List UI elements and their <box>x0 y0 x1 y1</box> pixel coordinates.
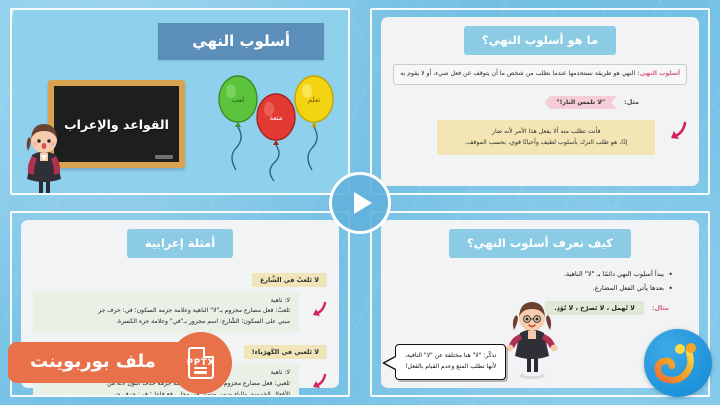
note-line-2: إذًا، هو طلب الترك بأسلوب لطيف وأحيانًا … <box>447 137 645 148</box>
balloon-yellow: تعلم <box>295 76 333 170</box>
note-box: فأنت تطلب منه ألا يفعل هذا الأمر لأنه ضا… <box>437 120 655 155</box>
example-item: لا تَلعبْ في الشَّارع لا: ناهية تَلعبْ: … <box>33 267 327 334</box>
definition-text: النهي هو طريقة نستخدمها عندما نطلب من شخ… <box>400 70 635 77</box>
play-button[interactable] <box>329 172 391 234</box>
character-with-bubble: تذكّر: "لا" هنا مختلفة عن "لا" النافية، … <box>395 294 558 380</box>
example-line: تَلعبْ: فعل مضارع مجزوم بـ"لا" الناهية و… <box>42 306 290 317</box>
pptx-watermark: ملف بوربوينت PPTX <box>8 342 202 383</box>
svg-text:لعب: لعب <box>232 96 244 104</box>
example-heading: لا تَلعبْ في الشَّارع <box>252 273 327 287</box>
speech-bubble: تذكّر: "لا" هنا مختلفة عن "لا" النافية، … <box>395 344 506 380</box>
teacher-character-cover <box>18 115 70 195</box>
bubble-line-1: تذكّر: "لا" هنا مختلفة عن "لا" النافية، <box>405 351 496 362</box>
example-label: مثل: <box>624 98 639 106</box>
page-title: أسلوب النهي <box>158 23 324 60</box>
bubble-line-2: لأنها تطلب المنع وعدم القيام بالفعل! <box>405 362 496 373</box>
brand-logo[interactable] <box>644 329 712 397</box>
how-example-label: مثال: <box>652 304 669 312</box>
play-icon <box>354 192 372 214</box>
example-row: مثل: "لا تلمس النار!" <box>393 96 679 109</box>
example-line: مبني على السكون؛ الشَّارع: اسم مجرور بـ"… <box>42 317 290 328</box>
example-heading: لا تَلعبي في الكَهرَباء! <box>244 345 327 359</box>
definition-keyword: أسلوب النهي: <box>637 70 680 77</box>
curved-arrow-icon <box>305 291 327 323</box>
doc-line <box>194 371 207 373</box>
svg-text:تعلم: تعلم <box>308 96 320 104</box>
recognise-bullet-list: يبدأ أسلوب النهي دائمًا بـ "لا" الناهية.… <box>393 269 687 296</box>
blackboard-text: القواعد والإعراب <box>64 117 169 132</box>
examples-title: أمثلة إعرابية <box>127 229 233 258</box>
how-to-recognise-title: كيف نعرف أسلوب النهي؟ <box>449 229 631 258</box>
how-example-chip: لا تُهمل ، لا تَصرُخ ، لا تُؤذِ. <box>545 301 644 315</box>
balloon-green: لعب <box>219 76 257 170</box>
what-is-nahy-slide[interactable]: ما هو أسلوب النهي؟ أسلوب النهي: النهي هو… <box>370 8 710 195</box>
quadrant-cover[interactable]: أسلوب النهي القواعد والإعراب <box>0 0 360 203</box>
what-is-nahy-card: ما هو أسلوب النهي؟ أسلوب النهي: النهي هو… <box>381 17 699 186</box>
qaf-logo-icon <box>653 338 703 388</box>
balloon-red: متعة <box>257 94 295 181</box>
example-ribbon: "لا تلمس النار!" <box>544 96 617 109</box>
definition-box: أسلوب النهي: النهي هو طريقة نستخدمها عند… <box>393 64 687 85</box>
pptx-file-icon: PPTX <box>170 332 232 394</box>
note-line-1: فأنت تطلب منه ألا يفعل هذا الأمر لأنه ضا… <box>447 126 645 137</box>
curved-arrow-icon <box>661 121 687 143</box>
example-line: لا: ناهية <box>42 296 290 307</box>
quadrant-what-is-nahy[interactable]: ما هو أسلوب النهي؟ أسلوب النهي: النهي هو… <box>360 0 720 203</box>
curved-arrow-icon <box>305 363 327 395</box>
svg-text:متعة: متعة <box>270 114 283 122</box>
pptx-badge-text: PPTX <box>187 358 215 368</box>
cover-slide[interactable]: أسلوب النهي القواعد والإعراب <box>10 8 350 195</box>
what-is-nahy-title: ما هو أسلوب النهي؟ <box>464 26 616 55</box>
balloons-decoration: لعب متعة تعلم <box>216 72 336 182</box>
list-item: يبدأ أسلوب النهي دائمًا بـ "لا" الناهية. <box>393 269 673 281</box>
teacher-character-bubble <box>506 294 558 380</box>
example-line: الأفعال الخمسة، والياء ضمير متصل في محل … <box>42 390 290 397</box>
